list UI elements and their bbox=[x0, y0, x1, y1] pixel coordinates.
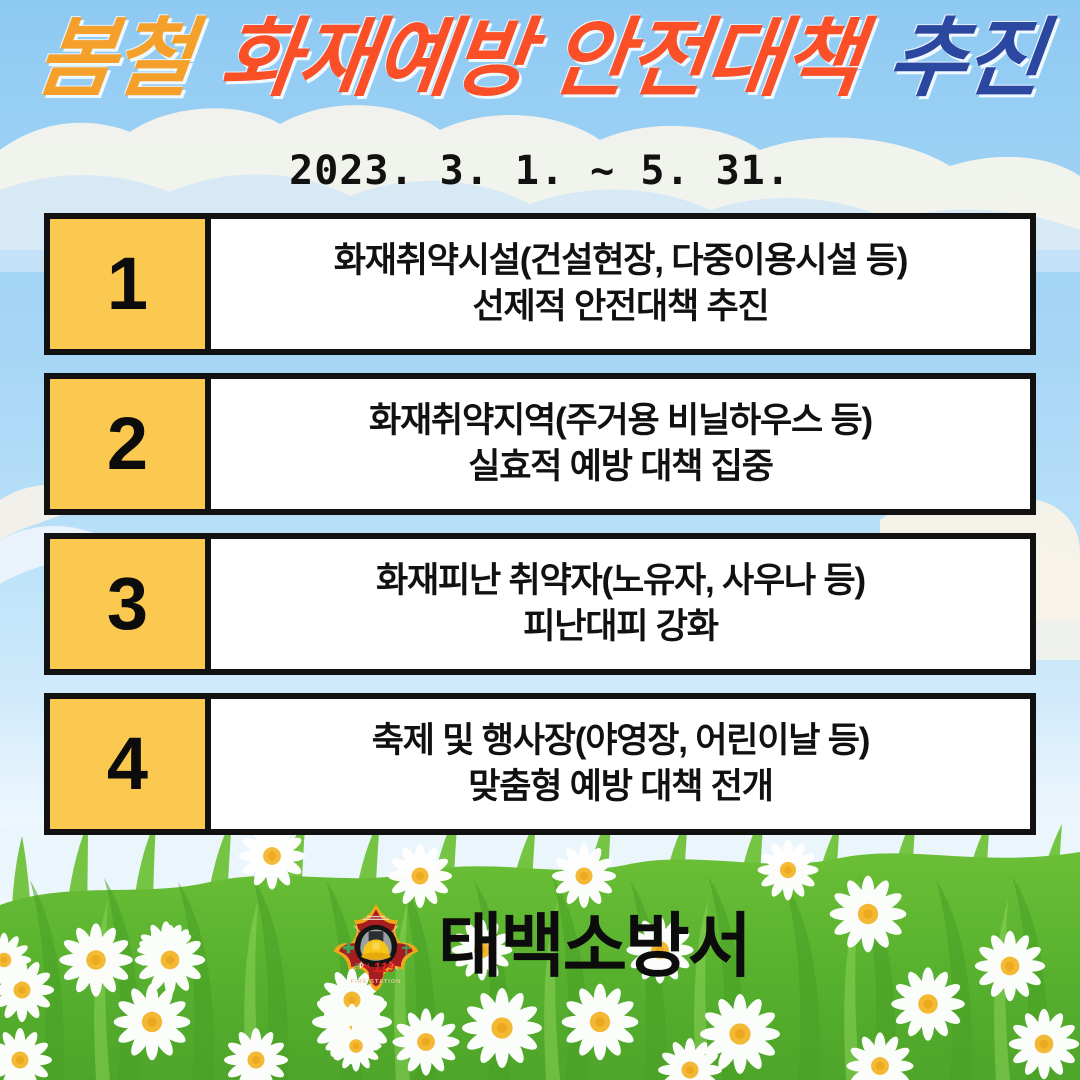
poster-title: 봄철 화재예방 안전대책 추진 bbox=[0, 16, 1080, 102]
measure-text-2: 화재취약지역(주거용 비닐하우스 등) 실효적 예방 대책 집중 bbox=[211, 379, 1030, 509]
measure-row-3: 3 화재피난 취약자(노유자, 사우나 등) 피난대피 강화 bbox=[44, 533, 1036, 675]
measure-row-2: 2 화재취약지역(주거용 비닐하우스 등) 실효적 예방 대책 집중 bbox=[44, 373, 1036, 515]
measure-text-3: 화재피난 취약자(노유자, 사우나 등) 피난대피 강화 bbox=[211, 539, 1030, 669]
date-range: 2023. 3. 1. ~ 5. 31. bbox=[0, 148, 1080, 194]
measure-number-2: 2 bbox=[50, 379, 211, 509]
svg-text:119: 119 bbox=[373, 960, 395, 975]
measure-line-2b: 실효적 예방 대책 집중 bbox=[468, 444, 773, 490]
measures-list: 1 화재취약시설(건설현장, 다중이용시설 등) 선제적 안전대책 추진 2 화… bbox=[44, 213, 1036, 853]
measure-line-1b: 선제적 안전대책 추진 bbox=[472, 284, 768, 330]
measure-text-4: 축제 및 행사장(야영장, 어린이날 등) 맞춤형 예방 대책 전개 bbox=[211, 699, 1030, 829]
footer-branding: 119 E P M FIRE STATION 태백소방서 bbox=[0, 900, 1080, 992]
poster-canvas: 봄철 화재예방 안전대책 추진 2023. 3. 1. ~ 5. 31. 1 화… bbox=[0, 0, 1080, 1080]
measure-line-4b: 맞춤형 예방 대책 전개 bbox=[468, 764, 773, 810]
measure-number-3: 3 bbox=[50, 539, 211, 669]
measure-text-1: 화재취약시설(건설현장, 다중이용시설 등) 선제적 안전대책 추진 bbox=[211, 219, 1030, 349]
fire-department-maltese-cross-emblem: 119 E P M FIRE STATION bbox=[330, 900, 422, 992]
measure-line-2a: 화재취약지역(주거용 비닐하우스 등) bbox=[369, 398, 872, 444]
measure-line-4a: 축제 및 행사장(야영장, 어린이날 등) bbox=[372, 718, 870, 764]
measure-number-1: 1 bbox=[50, 219, 211, 349]
measure-line-1a: 화재취약시설(건설현장, 다중이용시설 등) bbox=[334, 238, 907, 284]
measure-row-4: 4 축제 및 행사장(야영장, 어린이날 등) 맞춤형 예방 대책 전개 bbox=[44, 693, 1036, 835]
emblem-caption: FIRE STATION bbox=[351, 979, 402, 985]
measure-number-4: 4 bbox=[50, 699, 211, 829]
title-segment-main: 화재예방 안전대책 bbox=[215, 16, 864, 102]
title-segment-push: 추진 bbox=[883, 16, 1048, 102]
measure-line-3a: 화재피난 취약자(노유자, 사우나 등) bbox=[376, 558, 865, 604]
measure-row-1: 1 화재취약시설(건설현장, 다중이용시설 등) 선제적 안전대책 추진 bbox=[44, 213, 1036, 355]
title-segment-spring: 봄철 bbox=[32, 16, 197, 102]
organization-name: 태백소방서 bbox=[438, 911, 750, 981]
measure-line-3b: 피난대피 강화 bbox=[523, 604, 718, 650]
svg-text:M: M bbox=[364, 963, 369, 970]
